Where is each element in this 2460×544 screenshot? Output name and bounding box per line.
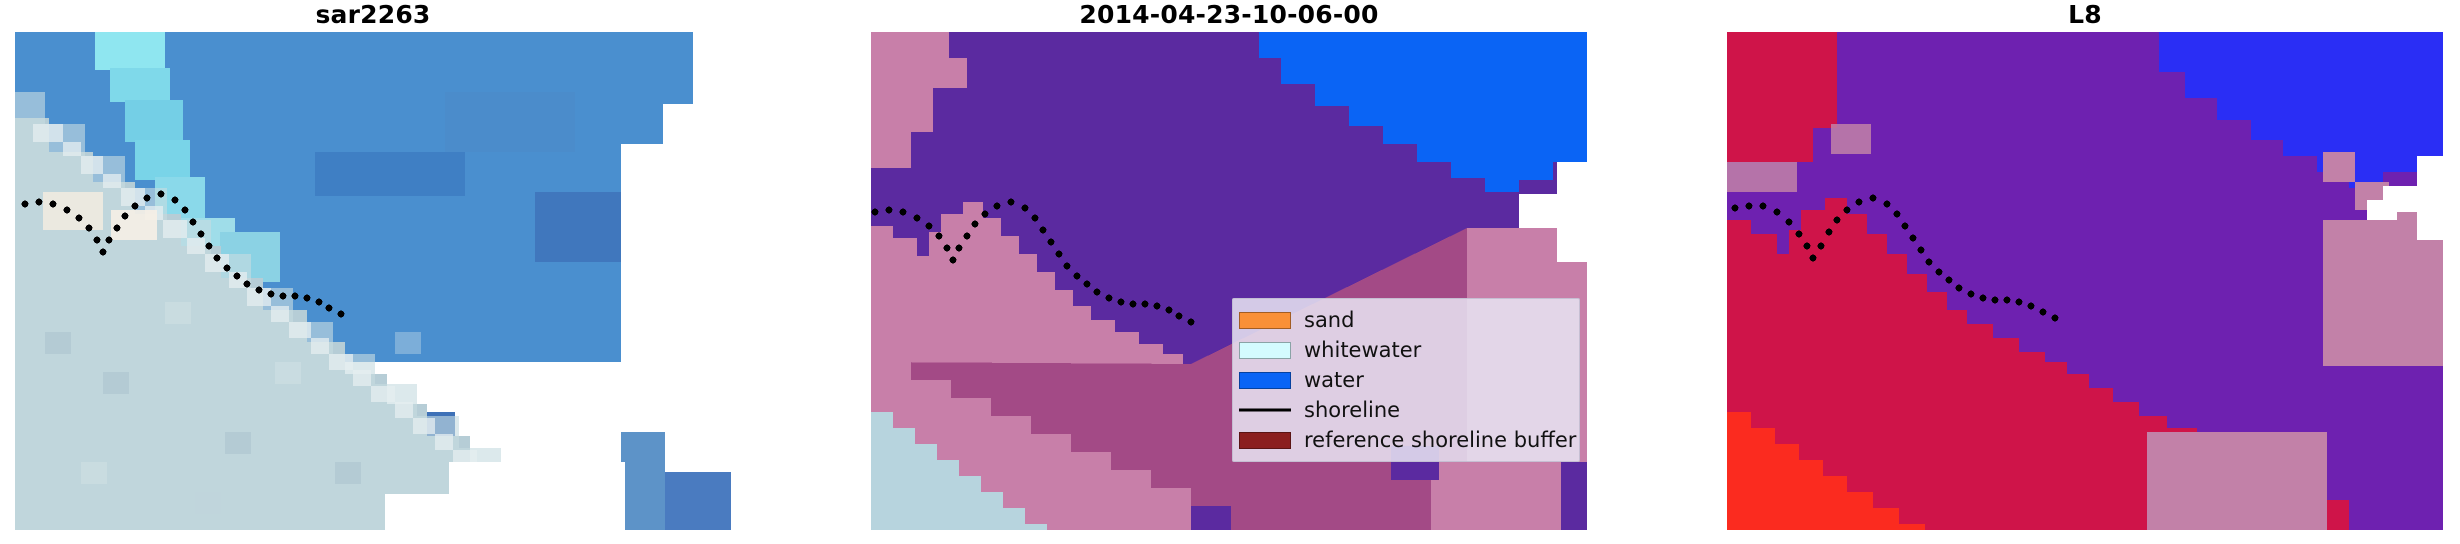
panel-title-sar2263: sar2263 — [15, 0, 731, 30]
axes-l8 — [1727, 32, 2443, 530]
legend-label-shoreline: shoreline — [1304, 398, 1400, 422]
panel-title-classified: 2014-04-23-10-06-00 — [871, 0, 1587, 30]
legend-swatch-whitewater-icon — [1239, 342, 1291, 359]
legend-swatch-reference-buffer-icon — [1239, 432, 1291, 449]
legend-swatch-sand-icon — [1239, 312, 1291, 329]
legend: sand whitewater water shoreline referenc… — [1232, 298, 1580, 462]
legend-item-shoreline: shoreline — [1239, 395, 1571, 425]
panel-title-l8: L8 — [1727, 0, 2443, 30]
legend-line-shoreline-icon — [1239, 402, 1291, 419]
legend-label-water: water — [1304, 368, 1364, 392]
legend-label-reference-shoreline-buffer: reference shoreline buffer — [1304, 428, 1576, 452]
legend-swatch-water-icon — [1239, 372, 1291, 389]
panel-l8: L8 — [1727, 0, 2443, 530]
panel-sar2263: sar2263 — [15, 0, 731, 530]
figure-canvas: sar2263 — [0, 0, 2460, 544]
legend-label-whitewater: whitewater — [1304, 338, 1421, 362]
legend-item-whitewater: whitewater — [1239, 335, 1571, 365]
legend-item-sand: sand — [1239, 305, 1571, 335]
axes-sar2263 — [15, 32, 731, 530]
legend-item-reference-shoreline-buffer: reference shoreline buffer — [1239, 425, 1571, 455]
legend-item-water: water — [1239, 365, 1571, 395]
legend-label-sand: sand — [1304, 308, 1354, 332]
